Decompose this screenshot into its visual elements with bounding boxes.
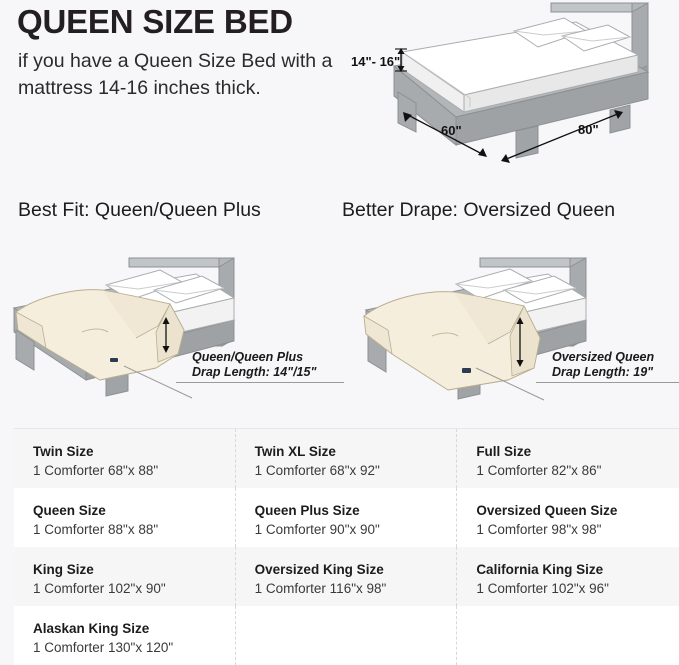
size-name: Oversized King Size	[255, 560, 457, 579]
queen-queen-plus-drape-diagram	[6, 228, 342, 408]
queen-size-bed-diagram	[386, 0, 679, 172]
table-cell: Queen Plus Size 1 Comforter 90"x 90"	[236, 488, 458, 547]
size-name: Twin XL Size	[255, 442, 457, 461]
table-cell: Alaskan King Size 1 Comforter 130"x 120"	[14, 606, 236, 665]
size-spec: 1 Comforter 116"x 98"	[255, 579, 457, 599]
bed-thickness-label: 14"- 16"	[351, 54, 400, 69]
table-row: King Size 1 Comforter 102"x 90" Oversize…	[14, 547, 679, 606]
bed-length-label: 80"	[578, 122, 599, 137]
table-cell: Oversized Queen Size 1 Comforter 98"x 98…	[457, 488, 679, 547]
page-subtitle: if you have a Queen Size Bed with a matt…	[18, 48, 336, 102]
callout-line-2: Drap Length: 14"/15"	[192, 365, 316, 380]
callout-line-1: Oversized Queen	[552, 350, 654, 365]
table-cell-empty	[236, 606, 458, 665]
section-heading-better-drape: Better Drape: Oversized Queen	[342, 198, 615, 222]
comforter-size-table: Twin Size 1 Comforter 68"x 88" Twin XL S…	[14, 428, 679, 665]
table-row: Alaskan King Size 1 Comforter 130"x 120"	[14, 606, 679, 665]
callout-line-2: Drap Length: 19"	[552, 365, 654, 380]
table-cell-empty	[457, 606, 679, 665]
table-cell: Twin Size 1 Comforter 68"x 88"	[14, 429, 236, 488]
size-name: Oversized Queen Size	[476, 501, 679, 520]
table-row: Twin Size 1 Comforter 68"x 88" Twin XL S…	[14, 429, 679, 488]
section-heading-best-fit: Best Fit: Queen/Queen Plus	[18, 198, 261, 222]
size-spec: 1 Comforter 102"x 96"	[476, 579, 679, 599]
size-spec: 1 Comforter 68"x 92"	[255, 461, 457, 481]
callout-underline-left	[176, 382, 344, 383]
callout-queen-queen-plus: Queen/Queen Plus Drap Length: 14"/15"	[192, 350, 316, 380]
callout-line-1: Queen/Queen Plus	[192, 350, 316, 365]
table-cell: California King Size 1 Comforter 102"x 9…	[457, 547, 679, 606]
size-guide-page: QUEEN SIZE BED if you have a Queen Size …	[0, 0, 679, 665]
page-title: QUEEN SIZE BED	[17, 2, 293, 42]
size-spec: 1 Comforter 68"x 88"	[33, 461, 235, 481]
size-name: Full Size	[476, 442, 679, 461]
size-name: Queen Plus Size	[255, 501, 457, 520]
table-row: Queen Size 1 Comforter 88"x 88" Queen Pl…	[14, 488, 679, 547]
size-name: California King Size	[476, 560, 679, 579]
size-spec: 1 Comforter 90"x 90"	[255, 520, 457, 540]
table-cell: Oversized King Size 1 Comforter 116"x 98…	[236, 547, 458, 606]
size-name: Twin Size	[33, 442, 235, 461]
size-spec: 1 Comforter 82"x 86"	[476, 461, 679, 481]
table-cell: King Size 1 Comforter 102"x 90"	[14, 547, 236, 606]
size-name: Queen Size	[33, 501, 235, 520]
table-cell: Queen Size 1 Comforter 88"x 88"	[14, 488, 236, 547]
size-name: Alaskan King Size	[33, 619, 235, 638]
table-cell: Twin XL Size 1 Comforter 68"x 92"	[236, 429, 458, 488]
callout-oversized-queen: Oversized Queen Drap Length: 19"	[552, 350, 654, 380]
size-spec: 1 Comforter 130"x 120"	[33, 638, 235, 658]
size-spec: 1 Comforter 98"x 98"	[476, 520, 679, 540]
size-spec: 1 Comforter 102"x 90"	[33, 579, 235, 599]
size-spec: 1 Comforter 88"x 88"	[33, 520, 235, 540]
table-cell: Full Size 1 Comforter 82"x 86"	[457, 429, 679, 488]
bed-width-label: 60"	[441, 123, 462, 138]
size-name: King Size	[33, 560, 235, 579]
callout-underline-right	[536, 382, 679, 383]
oversized-queen-drape-diagram	[348, 228, 679, 408]
